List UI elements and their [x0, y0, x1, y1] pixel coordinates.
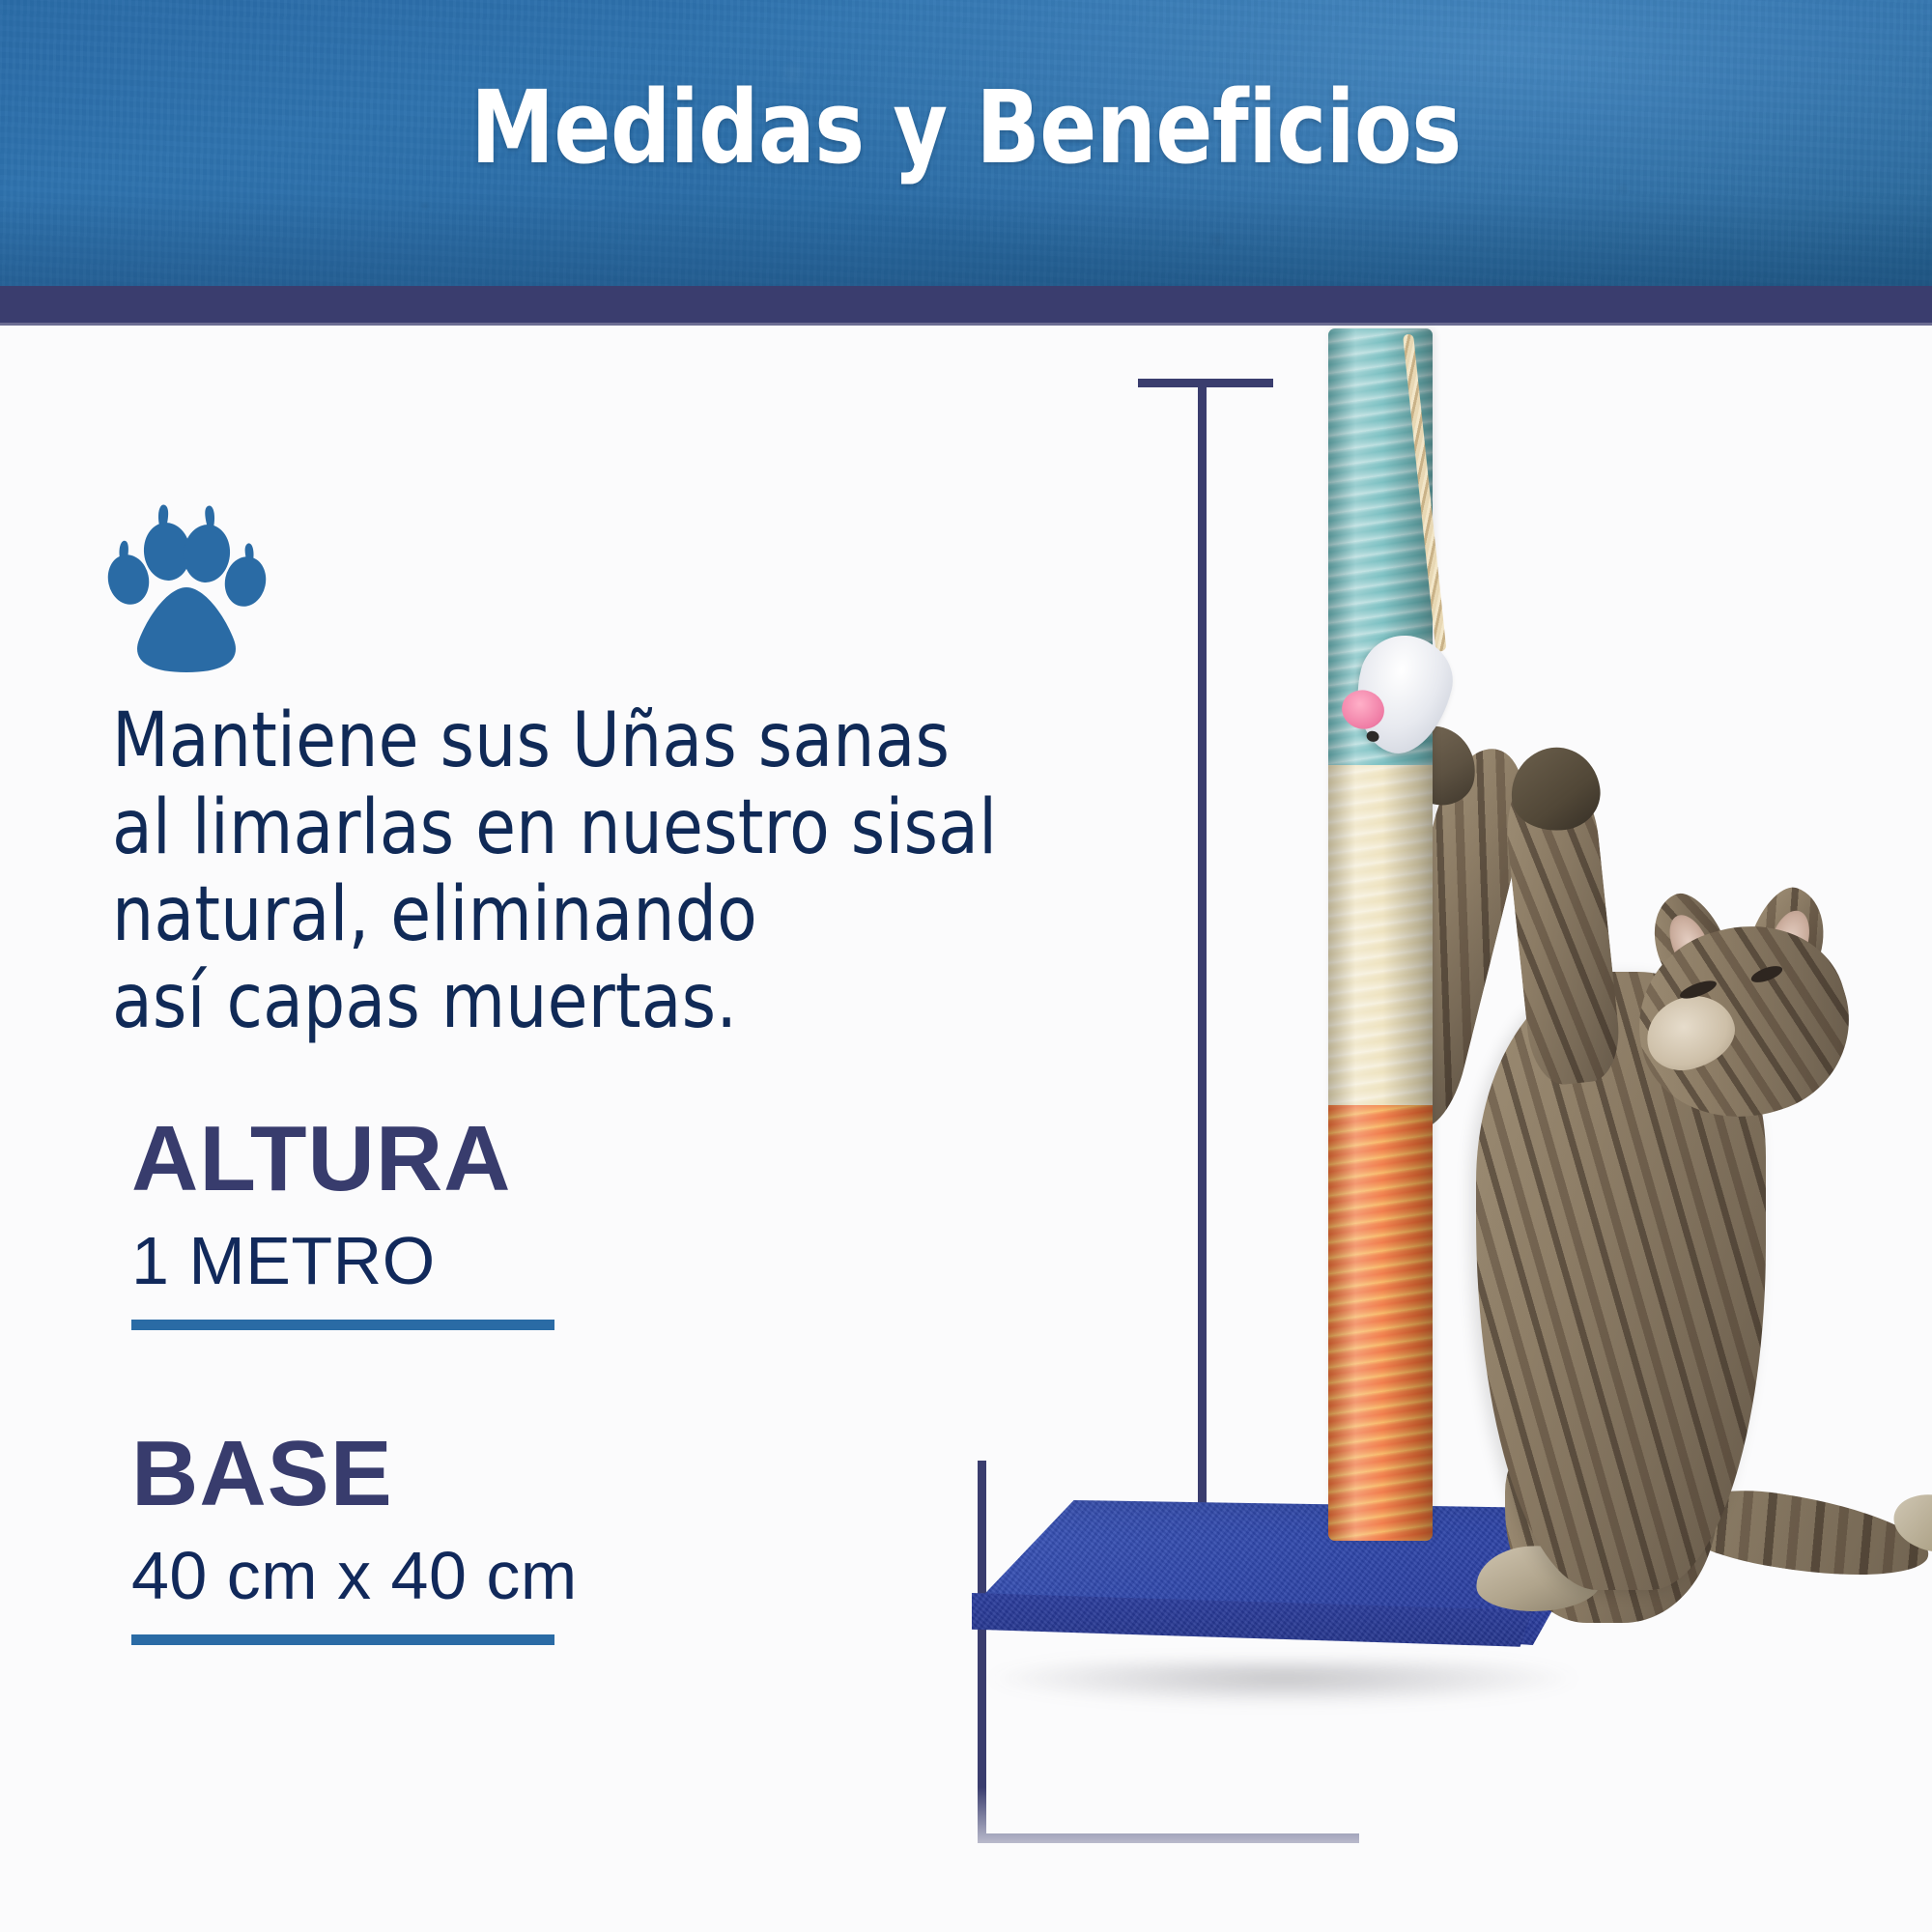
- header-accent-bar-edge: [0, 323, 1932, 326]
- spec-altura: ALTURA 1 METRO: [131, 1113, 554, 1330]
- post-cream-section: [1328, 765, 1433, 1105]
- benefit-line-1: Mantiene sus Uñas sanas: [112, 697, 1049, 784]
- page-title: Medidas y Beneficios: [68, 75, 1864, 181]
- spec-base-title: BASE: [131, 1428, 578, 1520]
- scratching-post: [1328, 328, 1433, 1541]
- post-orange-shading: [1328, 1105, 1433, 1541]
- benefit-line-4: así capas muertas.: [112, 958, 1049, 1045]
- tabby-cat: [1372, 744, 1913, 1671]
- benefit-line-2: al limarlas en nuestro sisal: [112, 784, 1049, 871]
- spec-base-rule: [131, 1634, 554, 1645]
- spec-altura-title: ALTURA: [131, 1113, 554, 1206]
- benefit-line-3: natural, eliminando: [112, 871, 1049, 958]
- spec-base-value: 40 cm x 40 cm: [131, 1542, 578, 1609]
- height-dimension-line: [1198, 384, 1207, 1631]
- post-orange-section: [1328, 1105, 1433, 1541]
- infographic-page: Medidas y Beneficios Mantiene sus Uñas s…: [0, 0, 1932, 1932]
- paw-print-icon: [104, 498, 269, 672]
- spec-altura-rule: [131, 1320, 554, 1330]
- header-bottom-shade: [0, 193, 1932, 286]
- spec-base: BASE 40 cm x 40 cm: [131, 1428, 578, 1645]
- post-cream-shading: [1328, 765, 1433, 1105]
- benefit-description: Mantiene sus Uñas sanas al limarlas en n…: [112, 697, 1049, 1045]
- spec-altura-value: 1 METRO: [131, 1227, 554, 1294]
- base-dimension-bottom-line: [978, 1833, 1359, 1843]
- header-accent-bar: [0, 286, 1932, 323]
- product-photo: [966, 328, 1932, 1893]
